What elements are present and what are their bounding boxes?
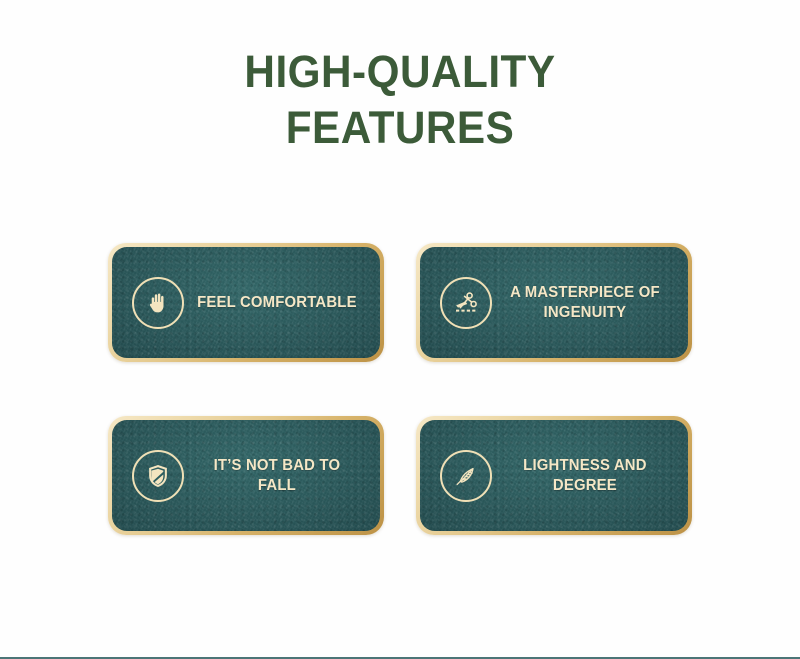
feature-card-body: A MASTERPIECE OF INGENUITY [420, 247, 688, 358]
feature-card-body: IT’S NOT BAD TO FALL [112, 420, 380, 531]
feature-card-body: FEEL COMFORTABLE [112, 247, 380, 358]
page-title-line-1: HIGH-QUALITY [24, 44, 776, 100]
page-title: HIGH-QUALITY FEATURES [0, 44, 800, 156]
page-title-line-2: FEATURES [24, 100, 776, 156]
scissors-icon [440, 277, 492, 329]
feature-card-feel-comfortable[interactable]: FEEL COMFORTABLE [108, 243, 384, 362]
hand-icon [132, 277, 184, 329]
feature-highlight-page: HIGH-QUALITY FEATURES FEEL COMFORTABLE [0, 0, 800, 659]
feature-card-lightness-and-degree[interactable]: LIGHTNESS AND DEGREE [416, 416, 692, 535]
feature-card-label: FEEL COMFORTABLE [188, 293, 363, 313]
feature-card-grid: FEEL COMFORTABLE [108, 243, 692, 535]
feature-card-masterpiece-of-ingenuity[interactable]: A MASTERPIECE OF INGENUITY [416, 243, 692, 362]
feather-icon [440, 450, 492, 502]
feature-card-label: A MASTERPIECE OF INGENUITY [496, 283, 671, 323]
feature-card-body: LIGHTNESS AND DEGREE [420, 420, 688, 531]
feature-card-label: IT’S NOT BAD TO FALL [188, 456, 363, 496]
feature-card-its-not-bad-to-fall[interactable]: IT’S NOT BAD TO FALL [108, 416, 384, 535]
feature-card-label: LIGHTNESS AND DEGREE [496, 456, 671, 496]
shield-icon [132, 450, 184, 502]
